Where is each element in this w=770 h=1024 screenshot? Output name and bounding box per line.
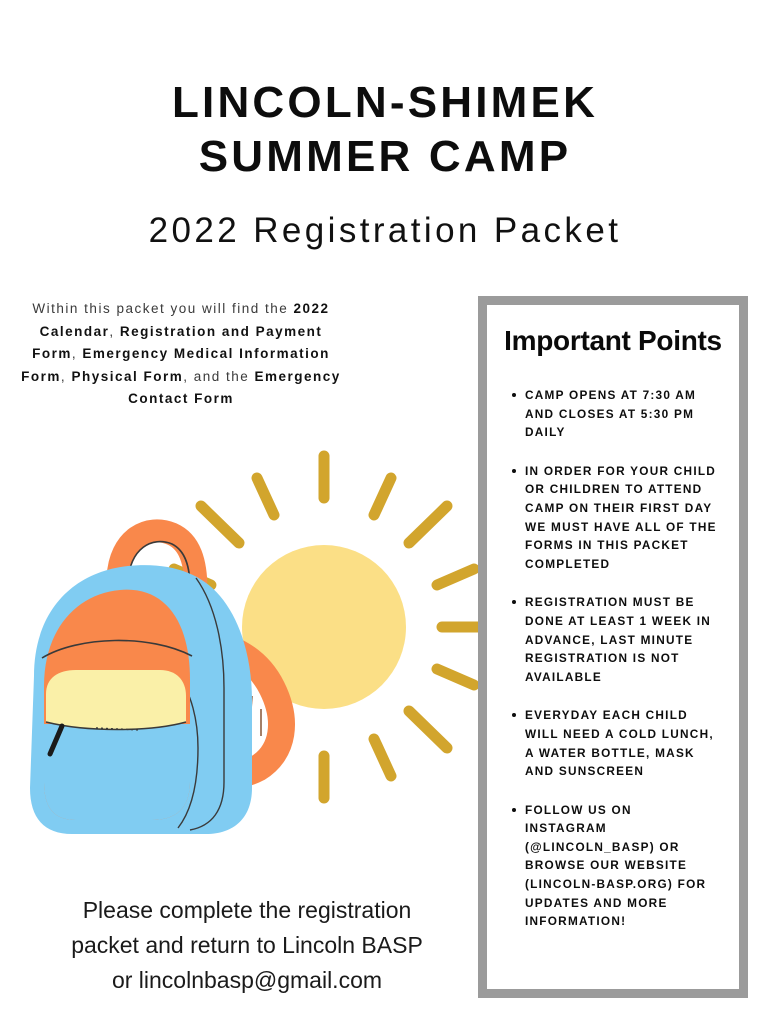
footer-instructions: Please complete the registration packet … — [24, 893, 470, 998]
intro-segment-2: , — [109, 324, 120, 339]
important-points-box: Important Points CAMP OPENS AT 7:30 AM A… — [478, 296, 748, 998]
important-point-item: FOLLOW US ON INSTAGRAM (@LINCOLN_BASP) O… — [512, 801, 718, 931]
intro-segment-6: , — [61, 369, 72, 384]
title-line-2: SUMMER CAMP — [0, 130, 770, 184]
intro-segment-4: , — [72, 346, 83, 361]
intro-segment-0: Within this packet you will find the — [32, 301, 293, 316]
page-title: LINCOLN-SHIMEK SUMMER CAMP — [0, 76, 770, 184]
important-point-item: CAMP OPENS AT 7:30 AM AND CLOSES AT 5:30… — [512, 386, 718, 442]
important-point-item: REGISTRATION MUST BE DONE AT LEAST 1 WEE… — [512, 593, 718, 686]
backpack-icon — [30, 531, 281, 834]
intro-paragraph: Within this packet you will find the 202… — [18, 298, 344, 411]
footer-line-3: or lincolnbasp@gmail.com — [24, 963, 470, 998]
important-point-item: IN ORDER FOR YOUR CHILD OR CHILDREN TO A… — [512, 462, 718, 574]
footer-line-2: packet and return to Lincoln BASP — [24, 928, 470, 963]
title-line-1: LINCOLN-SHIMEK — [0, 76, 770, 130]
footer-line-1: Please complete the registration — [24, 893, 470, 928]
intro-segment-7: Physical Form — [71, 369, 183, 384]
important-point-item: EVERYDAY EACH CHILD WILL NEED A COLD LUN… — [512, 706, 718, 780]
intro-segment-8: , and the — [183, 369, 254, 384]
flyer-page: LINCOLN-SHIMEK SUMMER CAMP 2022 Registra… — [0, 0, 770, 1024]
important-points-inner: Important Points CAMP OPENS AT 7:30 AM A… — [487, 305, 739, 989]
page-subtitle: 2022 Registration Packet — [0, 208, 770, 254]
important-points-title: Important Points — [504, 324, 722, 358]
artwork-illustration — [0, 430, 480, 880]
important-points-list: CAMP OPENS AT 7:30 AM AND CLOSES AT 5:30… — [504, 386, 722, 931]
